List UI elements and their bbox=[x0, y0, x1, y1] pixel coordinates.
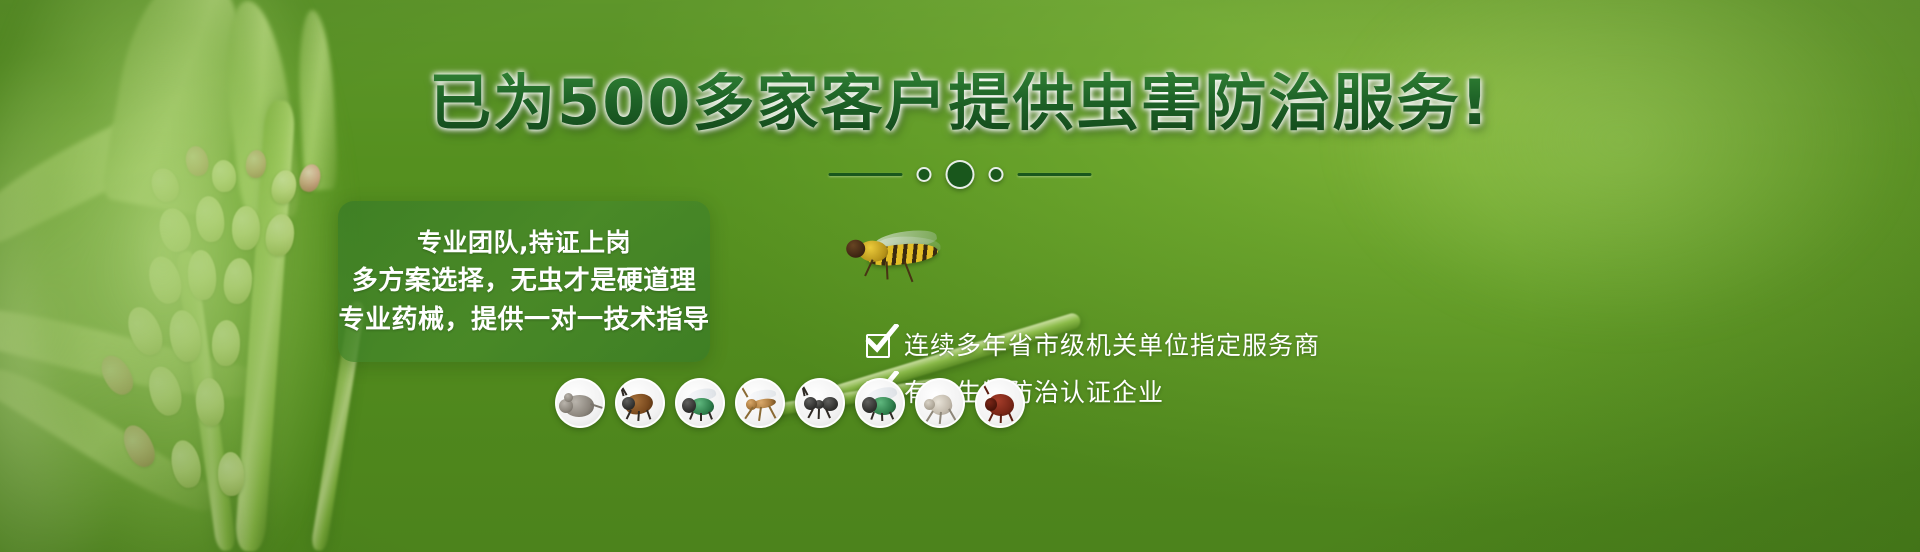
selling-point-line-1: 专业团队,持证上岗 bbox=[417, 230, 631, 255]
greenbottle-fly-icon bbox=[855, 378, 905, 428]
divider-rule-right bbox=[1018, 173, 1092, 176]
bedbug-icon bbox=[975, 378, 1025, 428]
selling-point-line-3: 专业药械，提供一对一技术指导 bbox=[338, 307, 709, 333]
credential-label-1: 连续多年省市级机关单位指定服务商 bbox=[904, 333, 1320, 358]
cockroach-icon bbox=[615, 378, 665, 428]
housefly-icon bbox=[675, 378, 725, 428]
ant-icon bbox=[795, 378, 845, 428]
pest-icon-row bbox=[555, 378, 1025, 428]
decoration-dot-large bbox=[946, 160, 975, 189]
decoration-dot-1 bbox=[917, 167, 932, 182]
promo-banner: 已为500多家客户提供虫害防治服务! 已为500多家客户提供虫害防治服务! 专业… bbox=[0, 0, 1920, 552]
selling-point-line-2: 多方案选择，无虫才是硬道理 bbox=[352, 268, 697, 294]
selling-points-text: 专业团队,持证上岗 多方案选择，无虫才是硬道理 专业药械，提供一对一技术指导 bbox=[338, 201, 710, 362]
divider-rule-left bbox=[829, 173, 903, 176]
checkbox-checked-icon bbox=[866, 334, 890, 358]
decoration-divider bbox=[829, 160, 1092, 189]
page-title: 已为500多家客户提供虫害防治服务! bbox=[0, 72, 1920, 134]
credential-item-1: 连续多年省市级机关单位指定服务商 bbox=[866, 333, 1320, 358]
mouse-icon bbox=[555, 378, 605, 428]
flea-icon bbox=[915, 378, 965, 428]
mosquito-icon bbox=[735, 378, 785, 428]
decoration-dot-2 bbox=[989, 167, 1004, 182]
